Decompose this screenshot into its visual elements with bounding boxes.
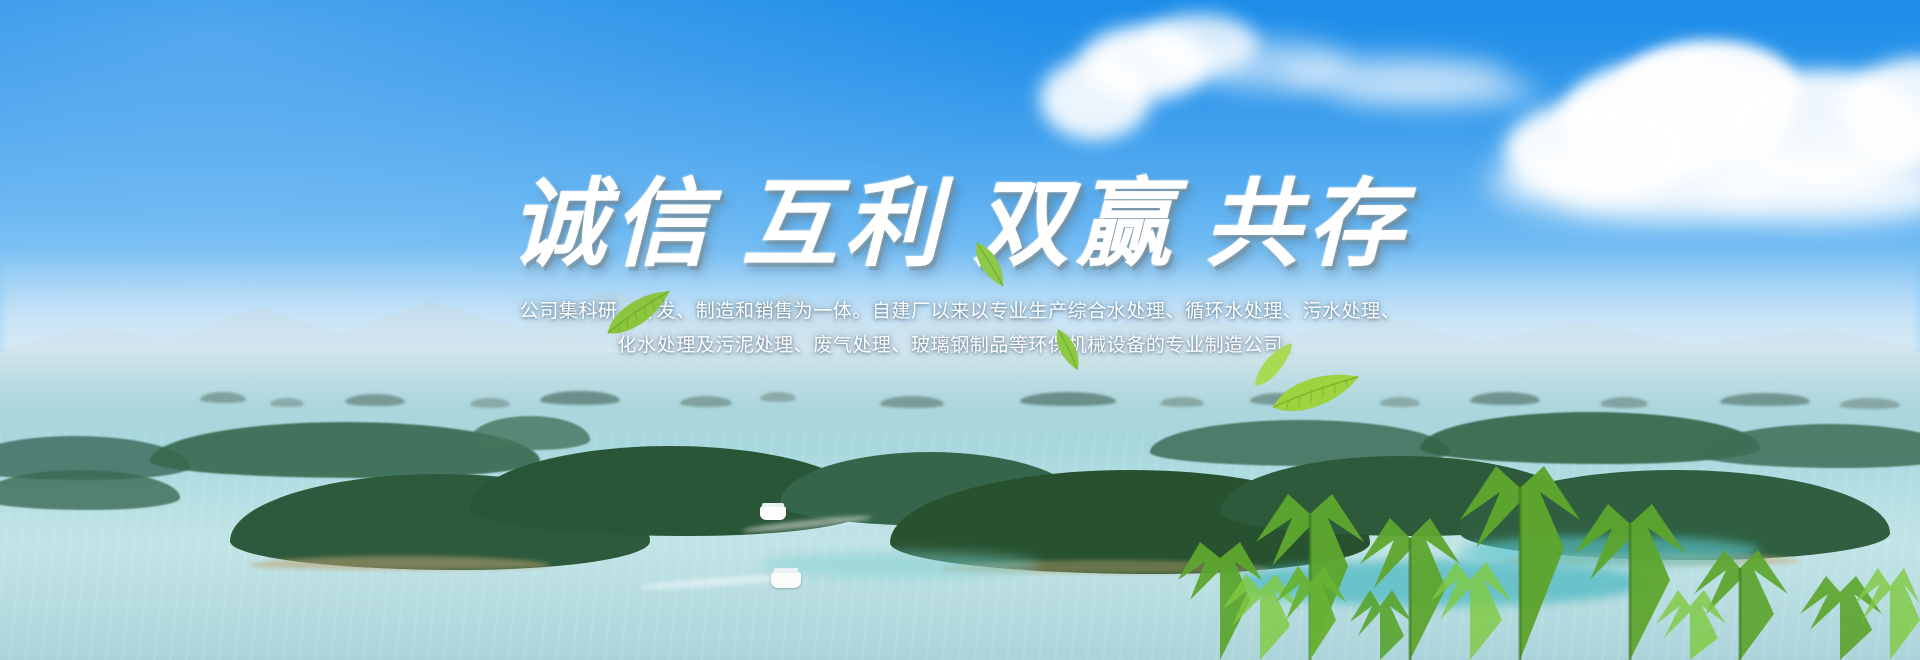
island bbox=[540, 391, 620, 405]
boat bbox=[760, 506, 786, 520]
island bbox=[1600, 397, 1648, 408]
headline-part-4: 共存 bbox=[1204, 167, 1409, 280]
island bbox=[200, 392, 246, 403]
island bbox=[345, 394, 405, 406]
island bbox=[680, 396, 732, 407]
island bbox=[1160, 397, 1204, 407]
boat-deck bbox=[774, 568, 798, 573]
hero-banner: 诚信互利双赢共存 公司集科研、开发、制造和销售为一体。自建厂以来以专业生产综合水… bbox=[0, 0, 1920, 660]
island bbox=[270, 398, 304, 407]
island bbox=[880, 396, 944, 408]
teal-channel bbox=[760, 552, 1040, 578]
pine-tuft-left bbox=[1270, 540, 1430, 660]
island bbox=[470, 398, 510, 408]
headline-part-1: 诚信 bbox=[510, 167, 715, 280]
subtitle-line-2: 化水处理及污泥处理、废气处理、玻璃钢制品等环保机械设备的专业制造公司。 bbox=[0, 328, 1920, 362]
page-title: 诚信互利双赢共存 bbox=[0, 0, 1920, 272]
island bbox=[1020, 392, 1116, 406]
boat bbox=[771, 572, 801, 588]
island bbox=[1470, 392, 1540, 405]
banner-content: 诚信互利双赢共存 公司集科研、开发、制造和销售为一体。自建厂以来以专业生产综合水… bbox=[0, 0, 1920, 362]
island bbox=[1380, 397, 1420, 407]
island bbox=[1720, 393, 1810, 406]
headline-part-3: 双赢 bbox=[973, 167, 1178, 280]
shoreline bbox=[250, 556, 550, 570]
island bbox=[760, 392, 796, 402]
headline-part-2: 互利 bbox=[742, 167, 947, 280]
subtitle-line-1: 公司集科研、开发、制造和销售为一体。自建厂以来以专业生产综合水处理、循环水处理、… bbox=[0, 294, 1920, 328]
banner-subtitle: 公司集科研、开发、制造和销售为一体。自建厂以来以专业生产综合水处理、循环水处理、… bbox=[0, 272, 1920, 362]
island bbox=[1840, 398, 1900, 409]
boat-deck bbox=[762, 503, 784, 507]
